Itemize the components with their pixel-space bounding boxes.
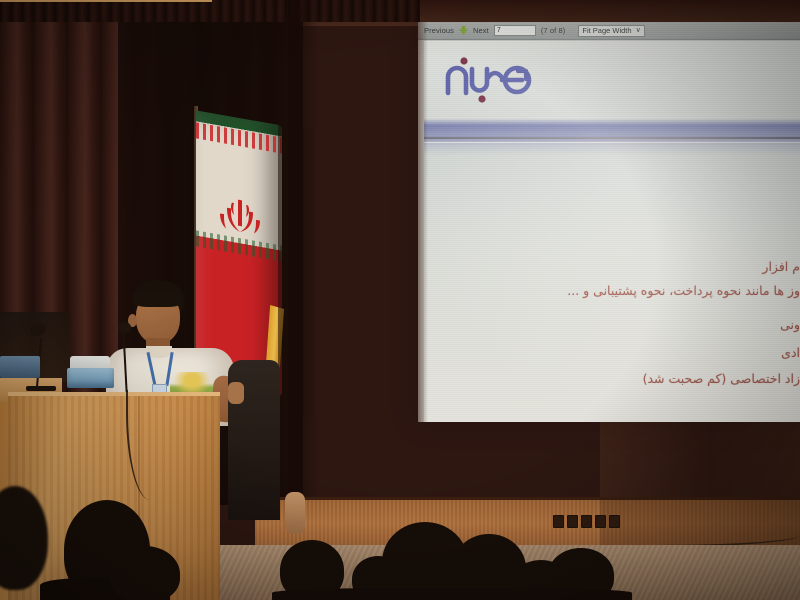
flag-shadow xyxy=(278,123,318,419)
outlet xyxy=(553,515,564,528)
standing-person-arm xyxy=(285,492,305,534)
zoom-level-value: Fit Page Width xyxy=(582,26,631,35)
audience-shoulders xyxy=(272,588,632,600)
zoom-level-select[interactable]: Fit Page Width ∨ xyxy=(578,25,644,37)
screen-left-shadow xyxy=(418,22,428,422)
slide-text-body: م افزار وز ها مانند نحوه پرداخت، نحوه پش… xyxy=(424,159,800,422)
microphone-base-left xyxy=(26,386,56,391)
wall-power-outlets xyxy=(553,514,631,528)
pdf-slide-page: م افزار وز ها مانند نحوه پرداخت، نحوه پش… xyxy=(424,41,800,422)
tissue-box xyxy=(67,368,114,388)
slide-line-3: ونی xyxy=(780,317,800,332)
auditorium-photo: Previous Next 7 (7 of 8) Fit Page Width … xyxy=(0,0,800,600)
outlet xyxy=(567,515,578,528)
nuo-logo xyxy=(442,57,540,103)
outlet xyxy=(595,515,606,528)
microphone-head-podium xyxy=(118,322,131,333)
projection-screen: Previous Next 7 (7 of 8) Fit Page Width … xyxy=(418,22,800,422)
audience-head xyxy=(110,546,180,600)
previous-button[interactable]: Previous xyxy=(424,26,454,35)
slide-divider-line xyxy=(424,137,800,139)
outlet xyxy=(609,515,620,528)
chevron-down-icon: ∨ xyxy=(636,27,641,34)
next-button[interactable]: Next xyxy=(473,26,489,35)
pdf-viewer-toolbar: Previous Next 7 (7 of 8) Fit Page Width … xyxy=(418,22,800,40)
speaker-hair-front xyxy=(133,290,183,307)
slide-line-2: وز ها مانند نحوه پرداخت، نحوه پشتیبانی و… xyxy=(567,283,800,298)
slide-line-1: م افزار xyxy=(762,259,800,274)
page-count-label: (7 of 8) xyxy=(541,26,566,35)
bystander-hand xyxy=(228,382,244,404)
slide-divider-highlight xyxy=(424,142,800,143)
slide-line-5: زاد اختصاصی (کم صحبت شد) xyxy=(643,371,800,386)
curtain-valance xyxy=(0,0,420,22)
page-number-input[interactable]: 7 xyxy=(494,25,536,36)
slide-line-4: ادی xyxy=(781,345,800,360)
laptop-device xyxy=(0,356,40,378)
next-arrow-icon[interactable] xyxy=(459,26,468,35)
outlet xyxy=(581,515,592,528)
podium-top-surface xyxy=(0,0,212,2)
flag-emblem-icon xyxy=(218,194,262,250)
